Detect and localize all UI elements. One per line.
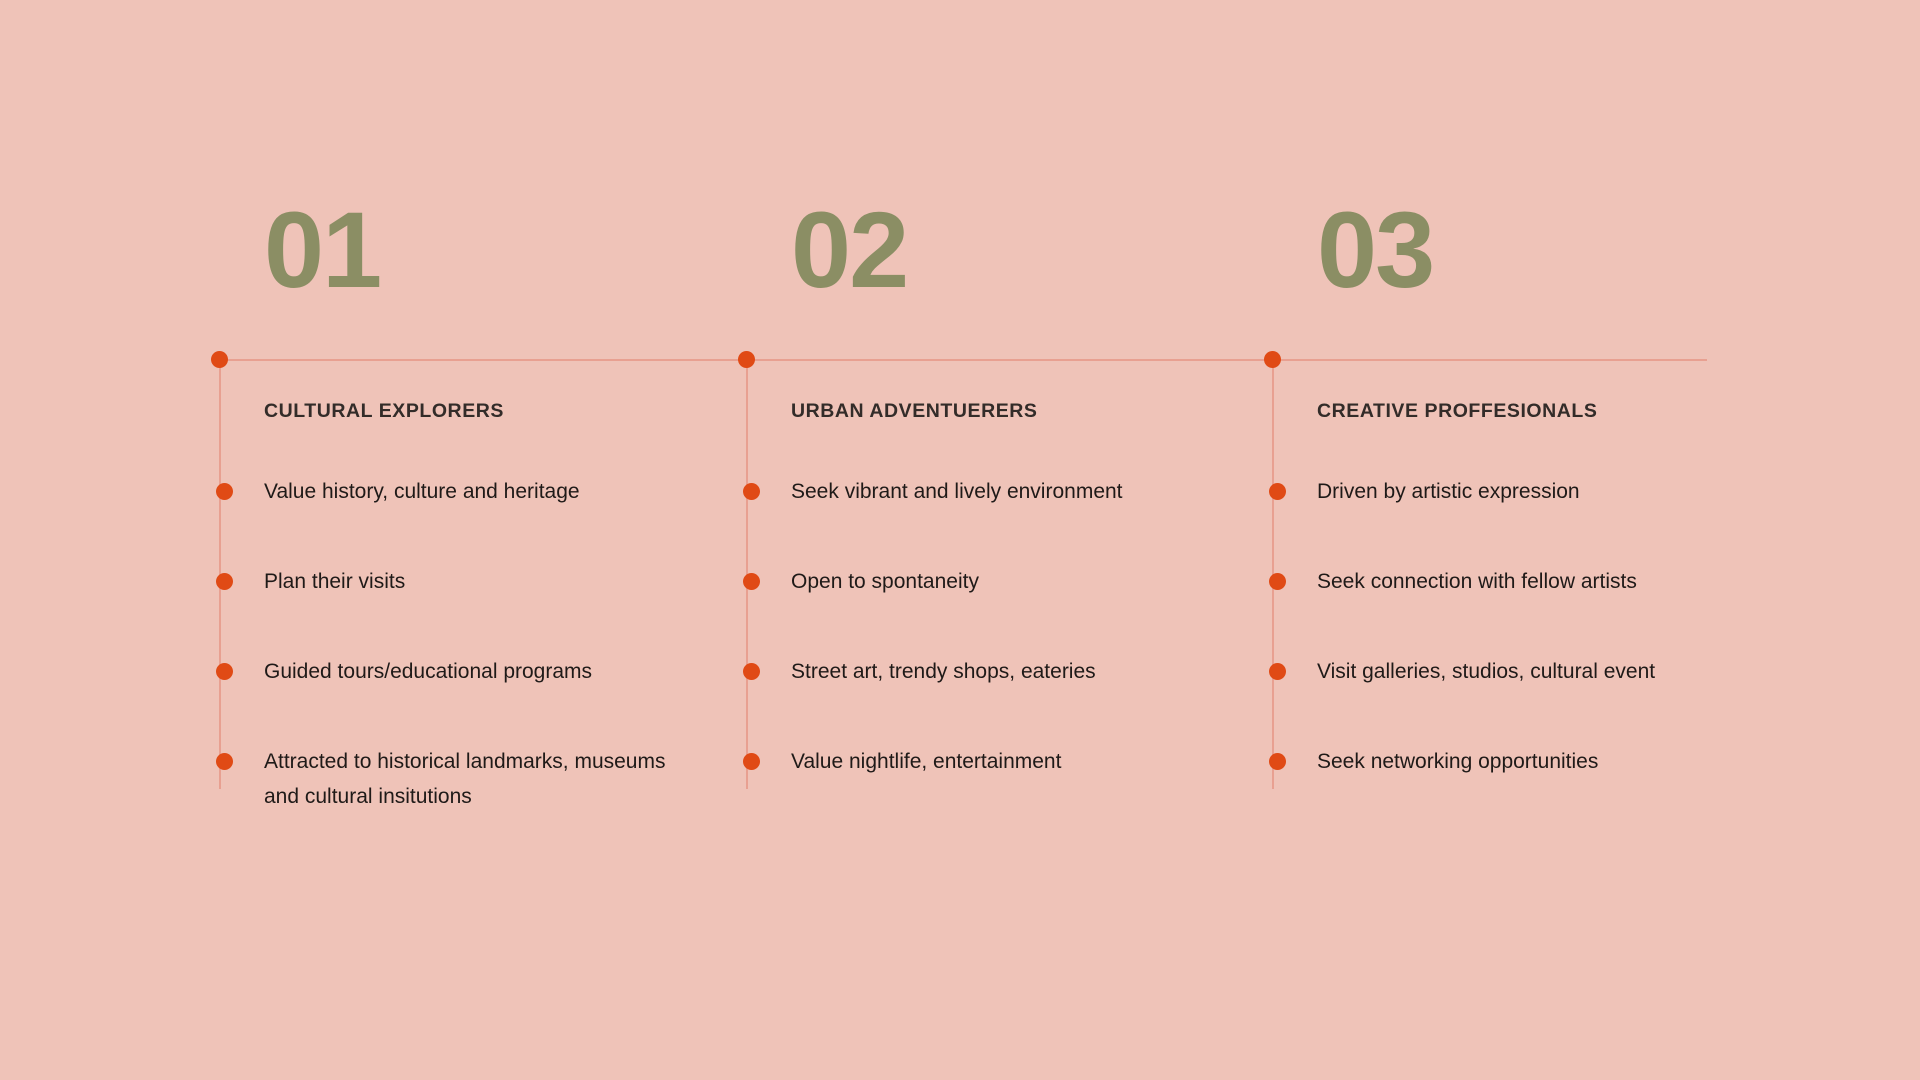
- list-item: Value history, culture and heritage: [264, 474, 684, 509]
- bullet-dot-icon: [743, 753, 760, 770]
- column-3: CREATIVE PROFFESIONALS Driven by artisti…: [1317, 400, 1747, 779]
- list-item-text: Attracted to historical landmarks, museu…: [264, 750, 665, 808]
- step-number-2: 02: [791, 196, 907, 304]
- list-item-text: Driven by artistic expression: [1317, 480, 1580, 503]
- column-title-3: CREATIVE PROFFESIONALS: [1317, 400, 1747, 423]
- timeline-node-1: [211, 351, 228, 368]
- bullet-dot-icon: [743, 573, 760, 590]
- column-3-bullet-list: Driven by artistic expression Seek conne…: [1317, 474, 1747, 779]
- list-item: Seek vibrant and lively environment: [791, 474, 1211, 509]
- column-title-1: CULTURAL EXPLORERS: [264, 400, 684, 423]
- list-item: Seek connection with fellow artists: [1317, 564, 1747, 599]
- step-number-3: 03: [1317, 196, 1433, 304]
- list-item: Driven by artistic expression: [1317, 474, 1747, 509]
- bullet-dot-icon: [216, 573, 233, 590]
- list-item: Plan their visits: [264, 564, 684, 599]
- bullet-dot-icon: [216, 483, 233, 500]
- list-item-text: Seek networking opportunities: [1317, 750, 1598, 773]
- list-item-text: Open to spontaneity: [791, 570, 979, 593]
- list-item-text: Value nightlife, entertainment: [791, 750, 1061, 773]
- step-number-1: 01: [264, 196, 380, 304]
- column-2-bullet-list: Seek vibrant and lively environment Open…: [791, 474, 1211, 779]
- timeline-axis-line: [219, 359, 1707, 361]
- bullet-dot-icon: [1269, 753, 1286, 770]
- bullet-dot-icon: [743, 663, 760, 680]
- bullet-dot-icon: [1269, 573, 1286, 590]
- list-item-text: Visit galleries, studios, cultural event: [1317, 660, 1655, 683]
- list-item: Open to spontaneity: [791, 564, 1211, 599]
- bullet-dot-icon: [743, 483, 760, 500]
- list-item-text: Seek vibrant and lively environment: [791, 480, 1123, 503]
- list-item: Guided tours/educational programs: [264, 654, 684, 689]
- column-1: CULTURAL EXPLORERS Value history, cultur…: [264, 400, 684, 814]
- slide-canvas: 01 CULTURAL EXPLORERS Value history, cul…: [0, 0, 1920, 1080]
- list-item: Value nightlife, entertainment: [791, 744, 1211, 779]
- list-item-text: Street art, trendy shops, eateries: [791, 660, 1096, 683]
- list-item: Attracted to historical landmarks, museu…: [264, 744, 684, 814]
- bullet-dot-icon: [216, 753, 233, 770]
- timeline-node-3: [1264, 351, 1281, 368]
- column-title-2: URBAN ADVENTUERERS: [791, 400, 1211, 423]
- column-2: URBAN ADVENTUERERS Seek vibrant and live…: [791, 400, 1211, 779]
- bullet-dot-icon: [1269, 483, 1286, 500]
- list-item-text: Guided tours/educational programs: [264, 660, 592, 683]
- list-item: Seek networking opportunities: [1317, 744, 1747, 779]
- list-item-text: Value history, culture and heritage: [264, 480, 580, 503]
- list-item-text: Plan their visits: [264, 570, 405, 593]
- list-item: Street art, trendy shops, eateries: [791, 654, 1211, 689]
- bullet-dot-icon: [216, 663, 233, 680]
- list-item: Visit galleries, studios, cultural event: [1317, 654, 1747, 689]
- list-item-text: Seek connection with fellow artists: [1317, 570, 1637, 593]
- column-1-bullet-list: Value history, culture and heritage Plan…: [264, 474, 684, 814]
- bullet-dot-icon: [1269, 663, 1286, 680]
- timeline-node-2: [738, 351, 755, 368]
